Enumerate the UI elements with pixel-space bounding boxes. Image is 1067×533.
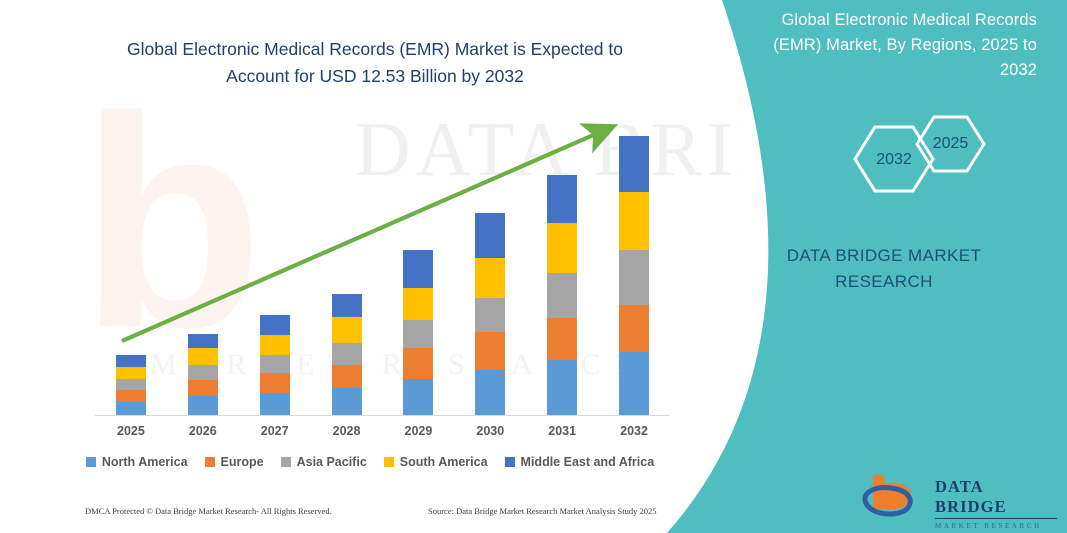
legend-label: North America: [102, 455, 188, 469]
legend-swatch-icon: [205, 457, 215, 467]
legend-label: Middle East and Africa: [521, 455, 655, 469]
right-panel: Global Electronic Medical Records (EMR) …: [667, 0, 1067, 533]
legend-swatch-icon: [281, 457, 291, 467]
x-axis-labels: 20252026202720282029203020312032: [95, 424, 670, 446]
footer-source: Source: Data Bridge Market Research Mark…: [428, 506, 657, 516]
legend-item-middle-east-and-africa[interactable]: Middle East and Africa: [505, 455, 655, 469]
x-axis-label-2031: 2031: [532, 424, 592, 438]
infographic-root: b DATA BRIDGE MARKET RESEARCH Global Ele…: [0, 0, 1067, 533]
legend-label: Europe: [221, 455, 264, 469]
chart-legend: North AmericaEuropeAsia PacificSouth Ame…: [0, 455, 740, 469]
hexagon-badges: 2032 2025: [843, 103, 1023, 208]
logo-subtitle: MARKET RESEARCH: [935, 522, 1057, 530]
legend-swatch-icon: [86, 457, 96, 467]
chart-plot-area: 20252026202720282029203020312032 North A…: [0, 0, 740, 533]
panel-title: Global Electronic Medical Records (EMR) …: [737, 8, 1037, 82]
panel-brand: DATA BRIDGE MARKET RESEARCH: [734, 243, 1034, 294]
x-axis-label-2026: 2026: [173, 424, 233, 438]
x-axis-label-2029: 2029: [388, 424, 448, 438]
legend-item-south-america[interactable]: South America: [384, 455, 488, 469]
legend-item-north-america[interactable]: North America: [86, 455, 188, 469]
legend-swatch-icon: [505, 457, 515, 467]
trend-arrow: [0, 0, 740, 533]
hexagon-2025-label-box: 2025: [917, 117, 984, 171]
legend-label: Asia Pacific: [297, 455, 367, 469]
x-axis-label-2025: 2025: [101, 424, 161, 438]
footer-copyright: DMCA Protected © Data Bridge Market Rese…: [85, 506, 332, 516]
panel-brand-line1: DATA BRIDGE MARKET: [734, 243, 1034, 269]
hexagon-2025-label: 2025: [917, 117, 984, 171]
x-axis-label-2028: 2028: [317, 424, 377, 438]
legend-item-asia-pacific[interactable]: Asia Pacific: [281, 455, 367, 469]
legend-item-europe[interactable]: Europe: [205, 455, 264, 469]
legend-swatch-icon: [384, 457, 394, 467]
x-axis-label-2030: 2030: [460, 424, 520, 438]
logo-mark-icon: [857, 469, 935, 521]
legend-label: South America: [400, 455, 488, 469]
logo-title: DATA BRIDGE: [935, 477, 1057, 519]
x-axis-label-2032: 2032: [604, 424, 664, 438]
company-logo: DATA BRIDGE MARKET RESEARCH: [857, 469, 1057, 525]
x-axis-label-2027: 2027: [245, 424, 305, 438]
logo-text: DATA BRIDGE MARKET RESEARCH: [935, 477, 1057, 530]
footer: DMCA Protected © Data Bridge Market Rese…: [0, 506, 740, 526]
panel-brand-line2: RESEARCH: [734, 269, 1034, 295]
